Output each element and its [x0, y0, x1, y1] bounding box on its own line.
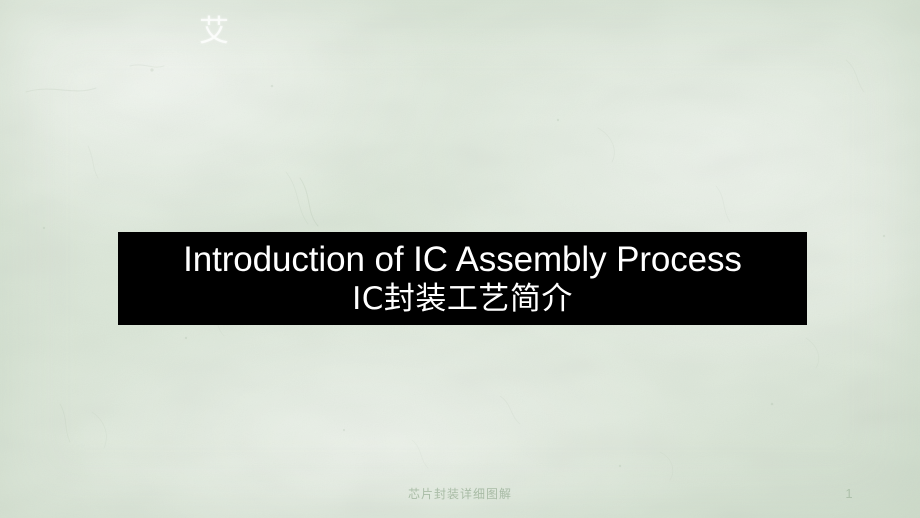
title-band: Introduction of IC Assembly Process IC封装…: [118, 232, 807, 325]
corner-watermark-glyph: 艾: [194, 12, 234, 52]
presentation-slide: 艾 Introduction of IC Assembly Process IC…: [0, 0, 920, 518]
footer-note: 芯片封装详细图解: [0, 486, 920, 502]
page-number: 1: [840, 486, 858, 502]
slide-title-english: Introduction of IC Assembly Process: [183, 239, 742, 280]
slide-title-chinese: IC封装工艺简介: [352, 280, 573, 319]
